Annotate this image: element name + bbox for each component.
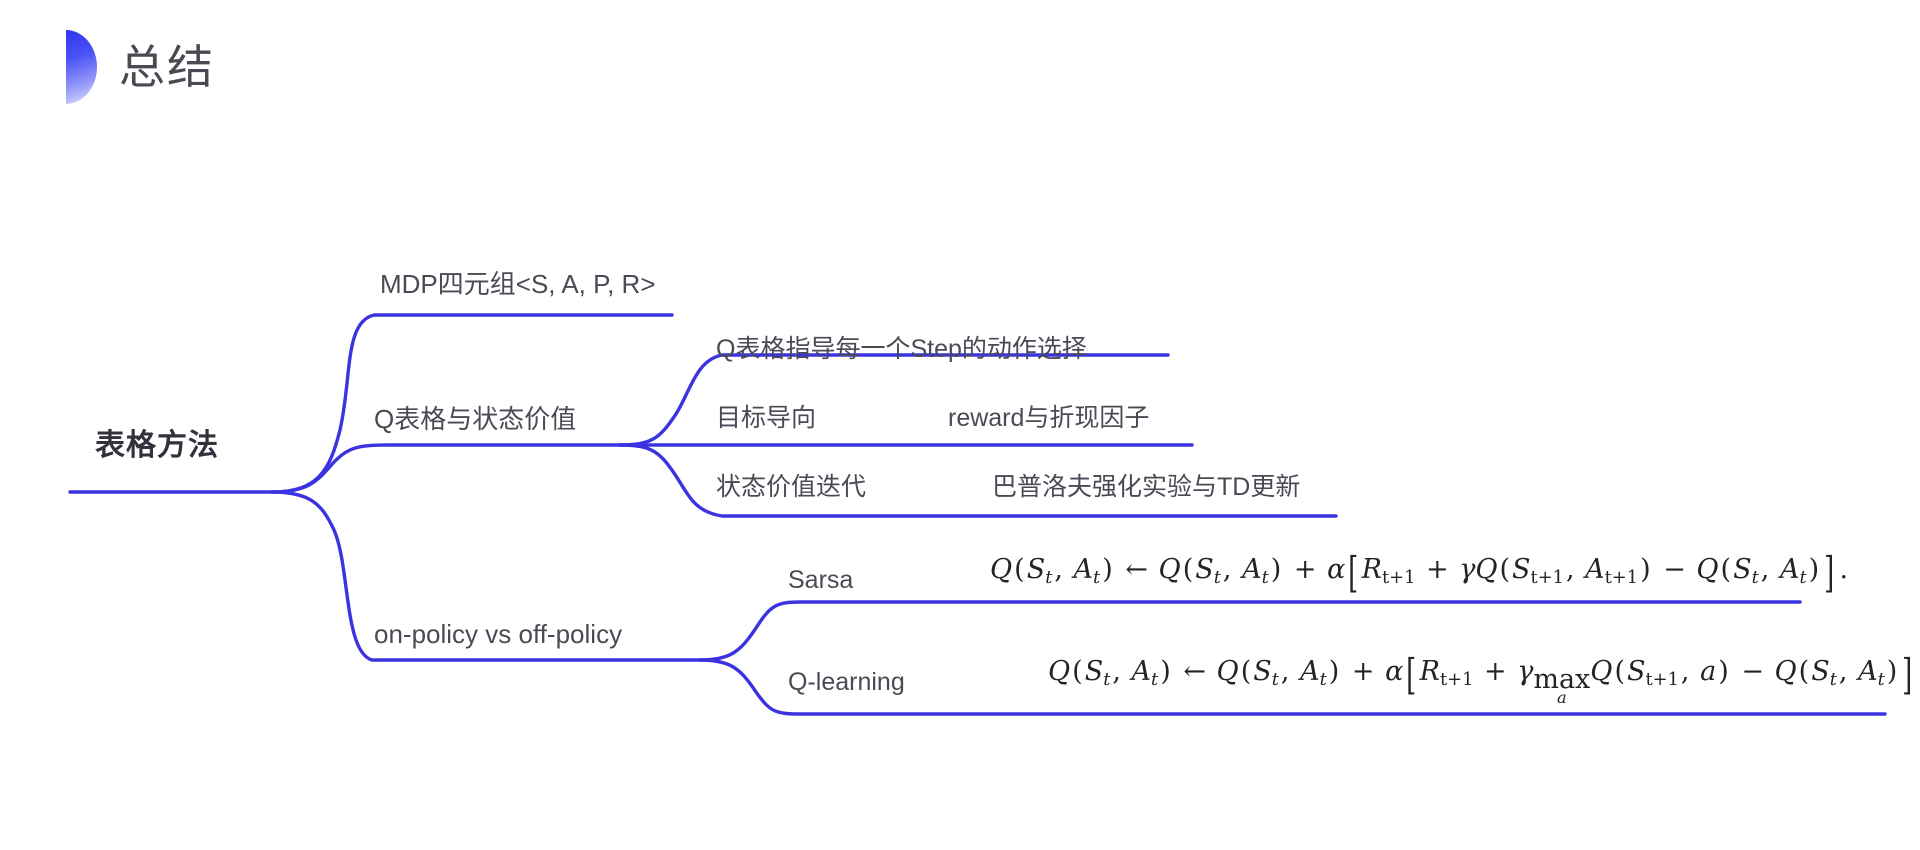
mindmap-node-goal-oriented-detail[interactable]: reward与折现因子 [948,406,1149,431]
mindmap-node-mdp[interactable]: MDP四元组<S, A, P, R> [380,271,656,297]
mindmap-node-q-table-step[interactable]: Q表格指导每一个Step的动作选择 [716,337,1087,362]
formula-q-learning: Q(St, At) ← Q(St, At) + α[Rt+1 + γmaxaQ(… [1048,654,1920,706]
mindmap-node-state-value-iteration[interactable]: 状态价值迭代 [716,475,866,500]
mindmap-node-q-learning[interactable]: Q-learning [788,670,905,695]
mindmap-canvas: 表格方法 MDP四元组<S, A, P, R> Q表格与状态价值 on-poli… [0,0,1920,850]
formula-sarsa: Q(St, At) ← Q(St, At) + α[Rt+1 + γQ(St+1… [990,552,1850,594]
mindmap-node-goal-oriented[interactable]: 目标导向 [716,406,816,431]
mindmap-node-on-off-policy[interactable]: on-policy vs off-policy [374,621,622,647]
connector-policy-to-sarsa [700,602,1800,660]
mindmap-node-state-value-iteration-detail[interactable]: 巴普洛夫强化实验与TD更新 [992,475,1300,500]
mindmap-node-sarsa[interactable]: Sarsa [788,568,853,593]
mindmap-root-node[interactable]: 表格方法 [95,431,219,461]
mindmap-node-q-table[interactable]: Q表格与状态价值 [374,406,576,432]
